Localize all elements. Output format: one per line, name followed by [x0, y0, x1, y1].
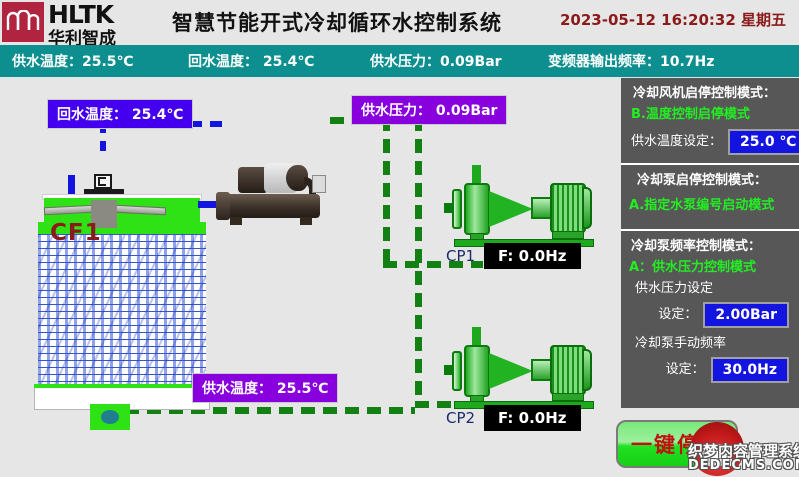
status-supply-water-temp: 供水温度：25.5℃ — [12, 51, 134, 71]
supply-pressure-setpoint-input[interactable]: 2.00Bar — [703, 302, 789, 328]
watermark-text-url: DEDECMS.COM — [688, 458, 799, 473]
chiller-unit[interactable] — [216, 161, 328, 227]
tower-body — [38, 234, 206, 384]
pump-cp2-frequency-display: F: 0.0Hz — [484, 405, 581, 431]
pump-cp2-tag: CP2 — [446, 409, 475, 427]
datetime-display: 2023-05-12 16:20:32 星期五 — [560, 9, 786, 30]
fan-motor-detail — [98, 177, 106, 186]
manual-frequency-input[interactable]: 30.0Hz — [711, 357, 789, 383]
manual-frequency-row: 设定： 30.0Hz — [621, 357, 799, 383]
pipe-supply-vertical-main — [383, 117, 390, 267]
pump-startstop-mode-title: 冷却泵启停控制模式： — [621, 171, 799, 191]
tag-return-water-temp: 回水温度： 25.4℃ — [47, 99, 193, 129]
control-group-pump-startstop: 冷却泵启停控制模式： A.指定水泵编号启动模式 — [621, 165, 799, 229]
pump-cp1-motor-fan-cover — [582, 187, 592, 229]
chiller-waterbox-head — [216, 192, 230, 220]
chiller-shell — [222, 194, 320, 218]
manual-frequency-label: 设定： — [666, 359, 705, 381]
chiller-foot-left — [230, 217, 242, 225]
status-return-water-temp: 回水温度： 25.4℃ — [188, 51, 314, 71]
chiller-control-panel-icon[interactable] — [312, 175, 326, 193]
tag-supply-water-pressure: 供水压力： 0.09Bar — [351, 95, 507, 125]
pump-startstop-mode-value[interactable]: A.指定水泵编号启动模式 — [621, 191, 799, 221]
hmi-screen: HLTK 华利智成 智慧节能开式冷却循环水控制系统 2023-05-12 16:… — [0, 0, 799, 477]
pump-cp1-adapter-cone — [489, 191, 533, 227]
pump-cp1-tag: CP1 — [446, 247, 475, 265]
cooling-tower-cf1[interactable]: CF1 — [38, 172, 206, 432]
pump-cp2-motor-fan-cover — [582, 349, 592, 391]
chiller-foot-right — [300, 217, 312, 225]
manual-frequency-heading: 冷却泵手动频率 — [621, 334, 799, 354]
status-inverter-output-frequency: 变频器输出频率：10.7Hz — [548, 51, 714, 71]
pump-frequency-mode-title: 冷却泵频率控制模式： — [621, 237, 799, 257]
logo-glyph-icon — [6, 10, 40, 32]
pipe-supply-vertical-branch — [415, 117, 422, 407]
pump-cp2-volute — [464, 345, 490, 397]
tower-label-cf1: CF1 — [50, 220, 102, 246]
page-title: 智慧节能开式冷却循环水控制系统 — [172, 7, 502, 37]
fan-startstop-mode-value[interactable]: B.温度控制启停模式 — [621, 104, 799, 126]
supply-pressure-setpoint-heading: 供水压力设定 — [621, 279, 799, 299]
pump-cp1-top-nozzle — [472, 165, 481, 185]
pump-cp2-motor — [550, 345, 586, 395]
pump-cp2-flange — [452, 351, 462, 391]
fan-startstop-mode-title: 冷却风机启停控制模式： — [621, 84, 799, 104]
pump-cp1[interactable]: CP1 F: 0.0Hz — [446, 163, 596, 263]
pump-frequency-mode-value[interactable]: A：供水压力控制模式 — [621, 257, 799, 279]
pump-cp1-flange — [452, 189, 462, 229]
company-logo — [2, 2, 44, 42]
supply-temp-setpoint-row: 供水温度设定： 25.0 ℃ — [621, 129, 799, 155]
app-header: HLTK 华利智成 智慧节能开式冷却循环水控制系统 2023-05-12 16:… — [0, 0, 799, 45]
control-group-fan-startstop: 冷却风机启停控制模式： B.温度控制启停模式 供水温度设定： 25.0 ℃ — [621, 78, 799, 163]
chiller-return-inlet — [198, 201, 218, 208]
control-panel: 冷却风机启停控制模式： B.温度控制启停模式 供水温度设定： 25.0 ℃ 冷却… — [621, 78, 799, 408]
supply-pressure-setpoint-label: 设定： — [658, 304, 697, 326]
pump-cp1-motor — [550, 183, 586, 233]
pump-cp2[interactable]: CP2 F: 0.0Hz — [446, 325, 596, 425]
control-group-pump-frequency: 冷却泵频率控制模式： A：供水压力控制模式 供水压力设定 设定： 2.00Bar… — [621, 231, 799, 391]
tower-fill-pattern-diagonal — [38, 234, 206, 384]
status-supply-water-pressure: 供水压力：0.09Bar — [370, 51, 502, 71]
pump-cp1-frequency-display: F: 0.0Hz — [484, 243, 581, 269]
tower-outlet-valve-handle — [101, 410, 119, 424]
tag-supply-water-temp: 供水温度： 25.5℃ — [192, 373, 338, 403]
pump-cp1-motor-foot — [552, 231, 584, 239]
pump-cp2-motor-foot — [552, 393, 584, 401]
pump-cp2-adapter-cone — [489, 353, 533, 389]
status-bar: 供水温度：25.5℃ 回水温度： 25.4℃ 供水压力：0.09Bar 变频器输… — [0, 45, 799, 77]
pump-cp2-top-nozzle — [472, 327, 481, 347]
supply-pressure-setpoint-row: 设定： 2.00Bar — [621, 302, 799, 328]
pump-cp1-volute — [464, 183, 490, 235]
supply-temp-setpoint-label: 供水温度设定： — [631, 131, 722, 153]
supply-temp-setpoint-input[interactable]: 25.0 ℃ — [728, 129, 799, 155]
watermark: 织梦内容管理系统 DEDECMS.COM — [676, 420, 799, 477]
